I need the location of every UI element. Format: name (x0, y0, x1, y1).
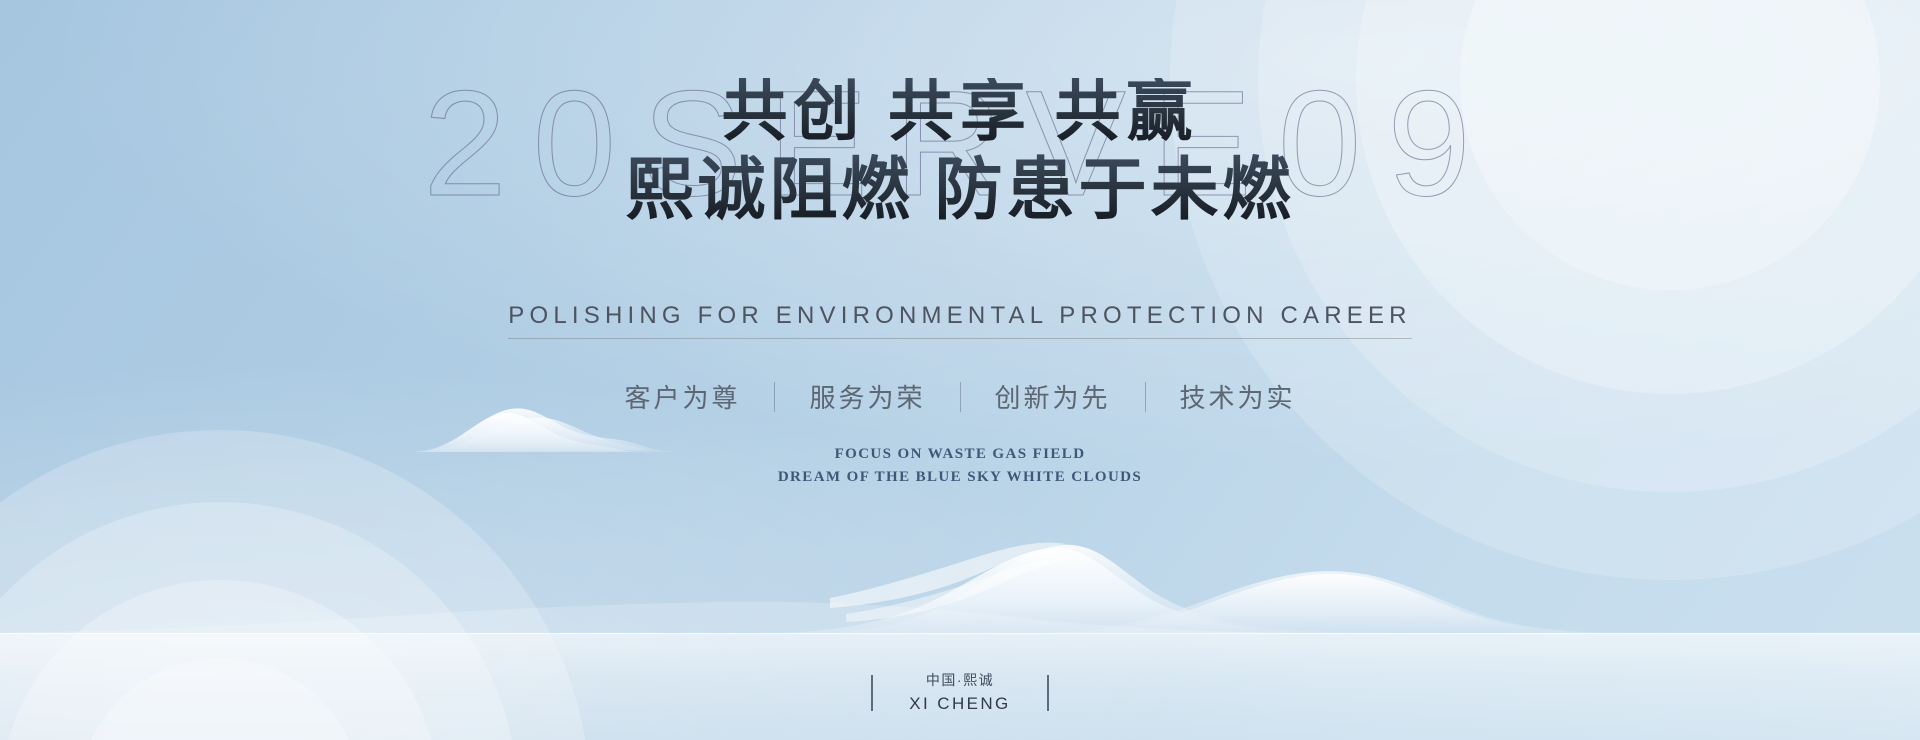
right-mountain-back (1060, 574, 1610, 633)
promotional-banner: 20SERVE09 (0, 0, 1920, 740)
brand-name-en: XI CHENG (909, 694, 1010, 713)
serif-tagline-2: DREAM OF THE BLUE SKY WHITE CLOUDS (0, 466, 1920, 489)
cloud-wisp-lower (846, 558, 1076, 622)
value-item-4: 技术为实 (1146, 378, 1330, 415)
brand-text: 中国·熙诚 XI CHENG (909, 670, 1010, 716)
brand-bar-right (1047, 675, 1049, 711)
horizon-line (0, 633, 1920, 634)
serif-tagline-1: FOCUS ON WASTE GAS FIELD (0, 443, 1920, 466)
brand-bar-left (871, 675, 873, 711)
headline-line-2: 熙诚阻燃 防患于未燃 (0, 154, 1920, 226)
value-item-1: 客户为尊 (590, 378, 774, 415)
serif-tagline-block: FOCUS ON WASTE GAS FIELD DREAM OF THE BL… (0, 443, 1920, 488)
english-strapline: POLISHING FOR ENVIRONMENTAL PROTECTION C… (0, 302, 1920, 339)
brand-lockup: 中国·熙诚 XI CHENG (0, 670, 1920, 716)
strapline-text: POLISHING FOR ENVIRONMENTAL PROTECTION C… (508, 302, 1411, 339)
brand-name-cn: 中国·熙诚 (926, 672, 994, 688)
right-mountain-front (1040, 571, 1640, 633)
cloud-wisp-upper (830, 543, 1066, 608)
value-item-3: 创新为先 (961, 378, 1145, 415)
value-item-2: 服务为荣 (775, 378, 959, 415)
headline-block: 共创 共享 共赢 熙诚阻燃 防患于未燃 (0, 78, 1920, 226)
headline-line-1: 共创 共享 共赢 (0, 78, 1920, 148)
core-values-row: 客户为尊 服务为荣 创新为先 技术为实 (0, 378, 1920, 415)
